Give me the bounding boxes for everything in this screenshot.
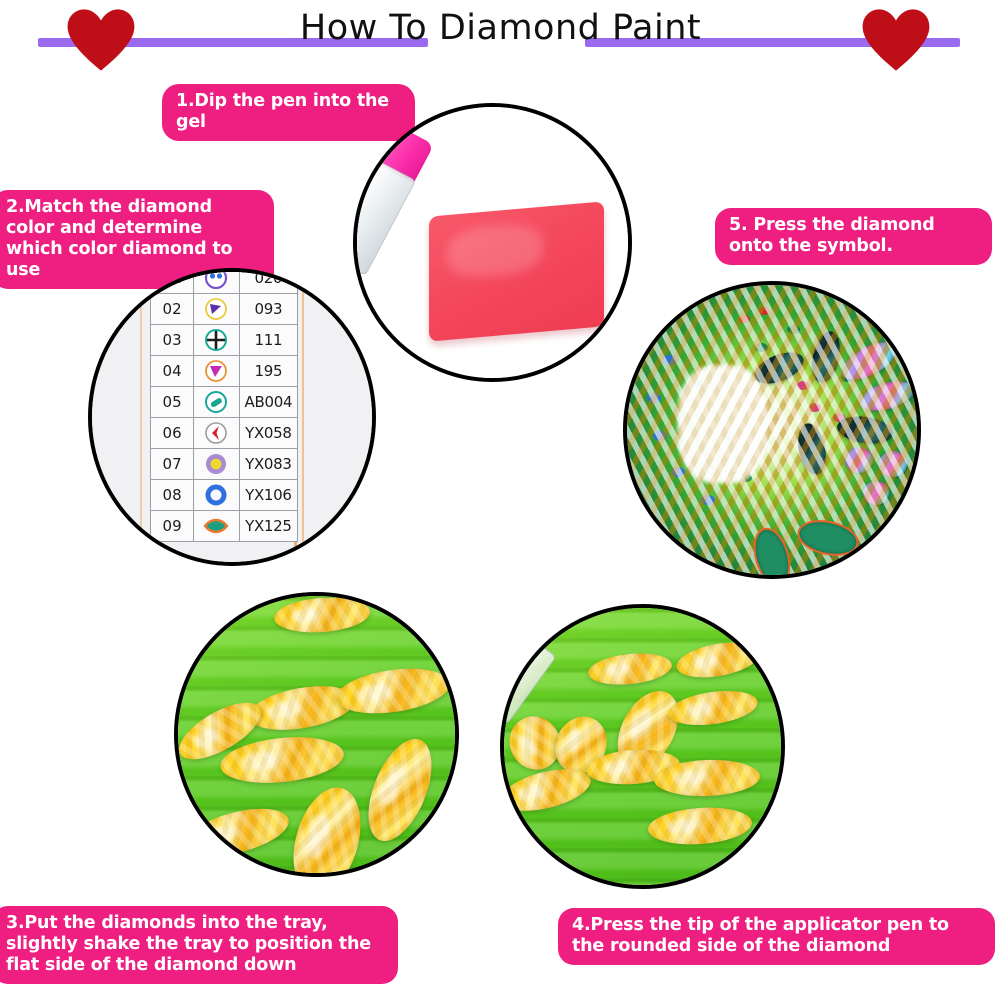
page-title: How To Diamond Paint [0,8,1001,48]
cell-symbol [194,387,240,418]
pen-body [353,161,416,276]
triangle-purple-in-yellow-circle-icon [203,296,229,322]
table-row: 06 YX058 [151,418,298,449]
cell-code: YX083 [239,449,297,480]
cell-code: 093 [239,294,297,325]
cell-no: 03 [151,325,194,356]
cell-code: YX058 [239,418,297,449]
table-row: 08 YX106 [151,480,298,511]
cell-no: 09 [151,511,194,542]
leaf-teal-orange-outline-icon [203,513,229,539]
table-row: 09 YX125 [151,511,298,542]
circle-purple-double-dot-icon [203,268,229,291]
photo-pen-picks-diamond: Pen tip pressing onto a yellow diamond i… [500,604,785,889]
table-row: 01 020 [151,268,298,294]
table-row: 05 AB004 [151,387,298,418]
cell-symbol [194,356,240,387]
cell-no: 01 [151,268,194,294]
cell-no: 04 [151,356,194,387]
photo-dip-pen-in-gel: Pink-capped applicator pen pressed into … [353,103,632,382]
cross-black-in-teal-circle-icon [203,327,229,353]
cell-code: 111 [239,325,297,356]
cell-code: 195 [239,356,297,387]
page-header: How To Diamond Paint [0,0,1001,78]
cell-no: 08 [151,480,194,511]
chart-margin-line [140,272,142,562]
pill-teal-in-teal-circle-icon [203,389,229,415]
gel-photo-background [357,107,628,378]
cell-code: YX125 [239,511,297,542]
ring-blue-icon [203,482,229,508]
dot-yellow-in-purple-ring-icon [203,451,229,477]
table-row: 04 195 [151,356,298,387]
cell-no: 06 [151,418,194,449]
cell-symbol [194,268,240,294]
cell-code: YX106 [239,480,297,511]
cell-code: AB004 [239,387,297,418]
photo-color-chart: 01 020 02 093 [88,268,376,566]
cell-no: 02 [151,294,194,325]
cell-symbol [194,480,240,511]
color-chart-table: 01 020 02 093 [150,268,298,542]
cell-symbol [194,449,240,480]
cell-symbol [194,418,240,449]
step-3-label: 3.Put the diamonds into the tray, slight… [0,906,398,984]
step-5-label: 5. Press the diamond onto the symbol. [715,208,992,265]
cell-code: 020 [239,268,297,294]
chart-paper: 01 020 02 093 [92,272,372,562]
table-row: 03 111 [151,325,298,356]
table-row: 07 YX083 [151,449,298,480]
arrow-red-in-gray-circle-icon [203,420,229,446]
photo-press-onto-symbol: Pen placing a yellow diamond onto the sy… [623,281,921,579]
gel-pad [429,201,604,341]
cell-no: 07 [151,449,194,480]
cell-symbol [194,325,240,356]
cell-symbol [194,511,240,542]
photo-diamonds-in-tray: Yellow marquise diamonds lying in a gree… [174,592,459,877]
table-row: 02 093 [151,294,298,325]
cell-no: 05 [151,387,194,418]
step-4-label: 4.Press the tip of the applicator pen to… [558,908,995,965]
chart-margin-line [302,272,304,562]
triangle-magenta-in-orange-circle-icon [203,358,229,384]
cell-symbol [194,294,240,325]
